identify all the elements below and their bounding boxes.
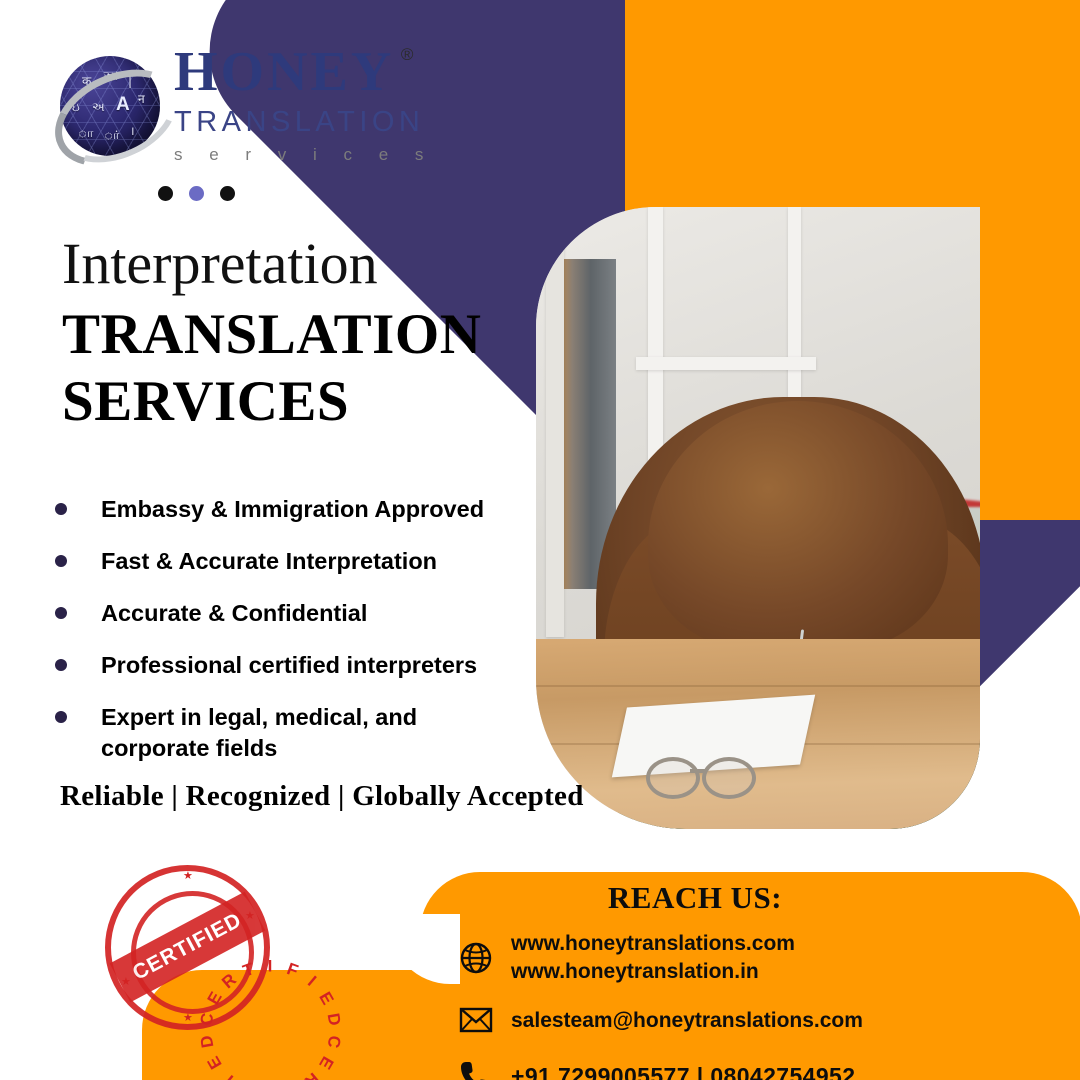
list-item-label: Accurate & Confidential <box>101 598 367 629</box>
list-item: Accurate & Confidential <box>55 598 555 629</box>
phone-number[interactable]: +91 7299005577 | 08042754952 <box>511 1061 855 1080</box>
list-item-label: Fast & Accurate Interpretation <box>101 546 437 577</box>
headline-script: Interpretation <box>62 234 532 295</box>
list-item: Expert in legal, medical, and corporate … <box>55 702 555 764</box>
decorative-dots <box>158 186 235 201</box>
hero-photo <box>536 207 980 829</box>
list-item: Professional certified interpreters <box>55 650 555 681</box>
headline-block: Interpretation TRANSLATION SERVICES <box>62 234 532 435</box>
brand-logo[interactable]: क আ | ઇ અ A न ா ா் । HONEY® TRANSLATION … <box>52 44 472 224</box>
contact-row-website[interactable]: www.honeytranslations.com www.honeytrans… <box>455 930 1055 985</box>
globe-languages-icon: क আ | ઇ અ A न ா ா் । <box>52 50 170 168</box>
tagline: Reliable | Recognized | Globally Accepte… <box>60 780 584 813</box>
dot-3 <box>220 186 235 201</box>
bullet-icon <box>55 711 67 723</box>
globe-icon <box>455 937 497 979</box>
logo-brand-text: HONEY <box>174 41 394 103</box>
website-line-1[interactable]: www.honeytranslations.com <box>511 932 795 955</box>
envelope-icon <box>455 999 497 1041</box>
headline-main-line1: TRANSLATION <box>62 301 532 368</box>
logo-line-translation: TRANSLATION <box>174 106 474 139</box>
bullet-icon <box>55 659 67 671</box>
list-item-label: Embassy & Immigration Approved <box>101 494 484 525</box>
bullet-icon <box>55 555 67 567</box>
website-line-2[interactable]: www.honeytranslation.in <box>511 960 759 983</box>
reach-us-block: REACH US: www.honeytranslations.com www.… <box>455 880 1055 1080</box>
bullet-icon <box>55 607 67 619</box>
headline-main-line2: SERVICES <box>62 368 532 435</box>
registered-mark: ® <box>401 46 417 63</box>
dot-1 <box>158 186 173 201</box>
list-item-label: Professional certified interpreters <box>101 650 477 681</box>
bullet-icon <box>55 503 67 515</box>
feature-list: Embassy & Immigration Approved Fast & Ac… <box>55 494 555 785</box>
phone-icon <box>455 1055 497 1080</box>
certified-stamp: CERTIFIEDCERTIFIED ★ ★ ★ ★ CERTIFIED <box>105 865 270 1030</box>
dot-2 <box>189 186 204 201</box>
reach-us-title: REACH US: <box>455 880 935 916</box>
contact-row-phone[interactable]: +91 7299005577 | 08042754952 <box>455 1055 1055 1080</box>
email-address[interactable]: salesteam@honeytranslations.com <box>511 1007 863 1035</box>
poster-canvas: क আ | ઇ અ A न ா ா் । HONEY® TRANSLATION … <box>0 0 1080 1080</box>
logo-line-services: s e r v i c e s <box>174 145 474 165</box>
list-item: Embassy & Immigration Approved <box>55 494 555 525</box>
eyeglasses <box>646 757 766 793</box>
contact-row-email[interactable]: salesteam@honeytranslations.com <box>455 999 1055 1041</box>
list-item-label: Expert in legal, medical, and corporate … <box>101 702 451 764</box>
list-item: Fast & Accurate Interpretation <box>55 546 555 577</box>
